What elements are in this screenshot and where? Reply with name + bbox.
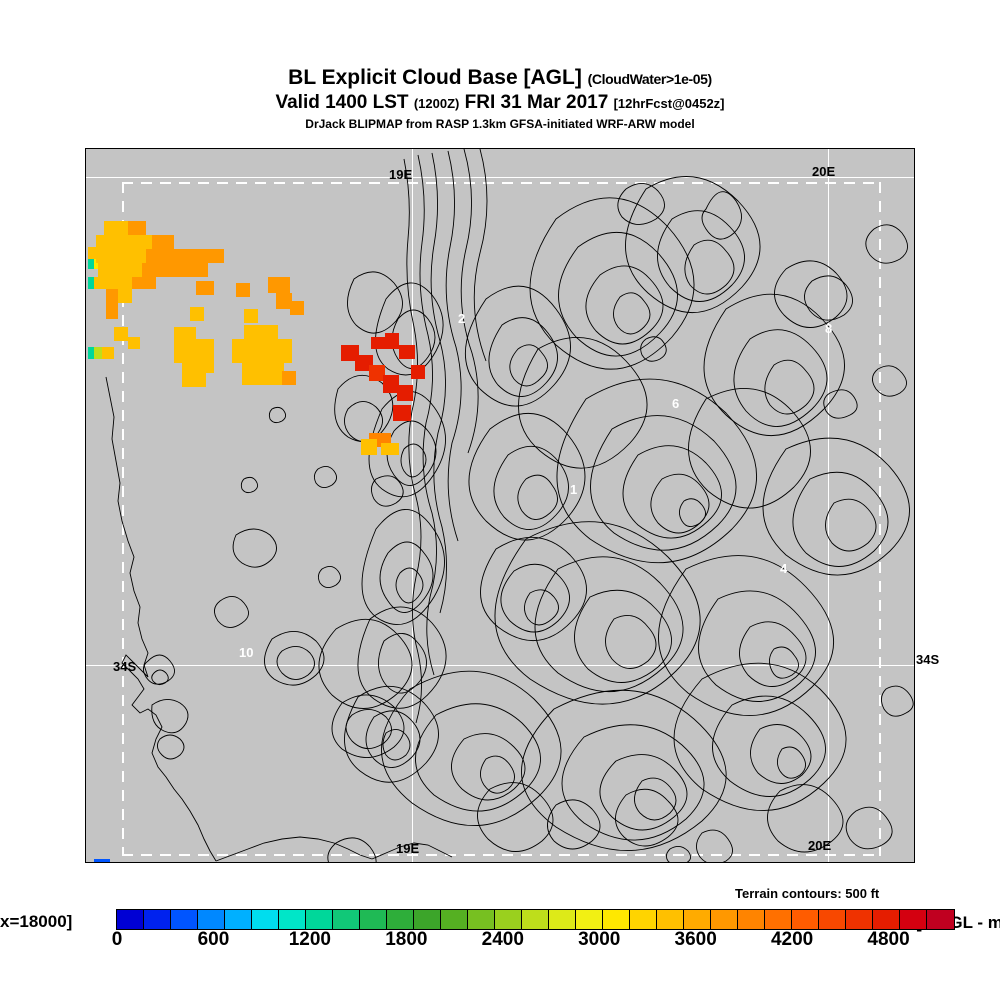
colorbar-tick-4800: 4800 xyxy=(867,929,909,951)
valid-utc-text: (1200Z) xyxy=(414,96,460,111)
cloud-base-cell xyxy=(393,405,411,421)
cloud-base-cell xyxy=(114,327,128,341)
graticule-label-20e: 20E xyxy=(808,838,831,853)
colorbar-swatch-15[interactable] xyxy=(522,910,549,929)
colorbar-swatch-27[interactable] xyxy=(846,910,873,929)
colorbar-swatch-24[interactable] xyxy=(765,910,792,929)
cloud-base-cell xyxy=(190,307,204,321)
cloud-base-cell xyxy=(381,443,399,455)
forecast-map[interactable] xyxy=(85,148,915,863)
colorbar-swatch-9[interactable] xyxy=(360,910,387,929)
graticule-label-20e: 20E xyxy=(812,164,835,179)
cloud-base-cell xyxy=(88,247,96,259)
colorbar-swatch-26[interactable] xyxy=(819,910,846,929)
map-clip-region xyxy=(86,149,914,862)
colorbar-swatch-21[interactable] xyxy=(684,910,711,929)
cloud-base-cell xyxy=(98,263,142,277)
cloud-base-cell xyxy=(94,347,102,359)
colorbar-tick-1200: 1200 xyxy=(289,929,331,951)
cloud-base-cell xyxy=(399,345,415,359)
valid-time-line: Valid 1400 LST (1200Z) FRI 31 Mar 2017 [… xyxy=(0,91,1000,115)
cloud-base-cell xyxy=(236,283,250,297)
graticule-label-19e: 19E xyxy=(389,167,412,182)
cloud-base-cell xyxy=(411,365,425,379)
colorbar-swatch-7[interactable] xyxy=(306,910,333,929)
cloud-base-cell xyxy=(232,339,292,363)
cloud-base-cell xyxy=(96,235,152,249)
graticule-label-34s: 34S xyxy=(916,652,939,667)
cloud-base-cell xyxy=(152,235,174,249)
cloud-base-cell xyxy=(371,337,385,349)
cloud-base-cell xyxy=(94,277,132,289)
cloud-base-cell xyxy=(104,221,128,235)
cloud-base-cell xyxy=(174,327,196,363)
colorbar-tick-0: 0 xyxy=(112,929,123,951)
colorbar-tick-2400: 2400 xyxy=(482,929,524,951)
colorbar-swatch-30[interactable] xyxy=(927,910,954,929)
cloud-base-cell xyxy=(128,221,146,235)
colorbar-tick-1800: 1800 xyxy=(385,929,427,951)
graticule-label-34s: 34S xyxy=(113,659,136,674)
cloud-base-cell xyxy=(94,859,110,862)
graticule-label-19e: 19E xyxy=(396,841,419,856)
cloud-base-cell xyxy=(385,333,399,349)
title-qualifier-text: (CloudWater>1e-05) xyxy=(588,71,712,87)
cloud-base-cell xyxy=(282,371,296,385)
site-marker-2[interactable]: 2 xyxy=(458,311,465,326)
colorbar-swatch-19[interactable] xyxy=(630,910,657,929)
colorbar-swatch-12[interactable] xyxy=(441,910,468,929)
colorbar-swatch-14[interactable] xyxy=(495,910,522,929)
colorbar-swatch-2[interactable] xyxy=(171,910,198,929)
cloud-base-cell xyxy=(242,363,284,385)
cloud-base-cell xyxy=(128,337,140,349)
cloud-base-cell xyxy=(118,289,132,303)
cloud-base-cell xyxy=(361,439,377,455)
valid-date-text: FRI 31 Mar 2017 xyxy=(465,92,609,113)
cloud-base-cell xyxy=(182,363,206,387)
site-marker-4[interactable]: 4 xyxy=(780,561,787,576)
colorbar-swatch-28[interactable] xyxy=(873,910,900,929)
colorbar-tick-3000: 3000 xyxy=(578,929,620,951)
colorbar-swatch-13[interactable] xyxy=(468,910,495,929)
colorbar-swatch-1[interactable] xyxy=(144,910,171,929)
colorbar-swatch-25[interactable] xyxy=(792,910,819,929)
colorbar-swatch-23[interactable] xyxy=(738,910,765,929)
site-marker-1[interactable]: 1 xyxy=(570,482,577,497)
chart-title: BL Explicit Cloud Base [AGL] (CloudWater… xyxy=(0,66,1000,91)
cloud-base-cell xyxy=(290,301,304,315)
valid-lst-text: Valid 1400 LST xyxy=(275,92,408,113)
cloud-base-cell xyxy=(397,385,413,401)
forecast-tag-text: [12hrFcst@0452z] xyxy=(614,96,725,111)
cloud-base-cell xyxy=(146,249,194,263)
colorbar-tick-600: 600 xyxy=(198,929,230,951)
site-marker-8[interactable]: 8 xyxy=(825,321,832,336)
cloud-base-cell xyxy=(196,281,214,295)
cloud-base-cell xyxy=(96,249,146,263)
colorbar-tick-3600: 3600 xyxy=(675,929,717,951)
cloud-base-cell xyxy=(268,277,290,293)
cloud-base-cell xyxy=(142,263,208,277)
cloud-base-data-layer xyxy=(86,149,914,862)
colorbar-swatch-17[interactable] xyxy=(576,910,603,929)
title-block: BL Explicit Cloud Base [AGL] (CloudWater… xyxy=(0,66,1000,133)
cloud-base-cell xyxy=(102,347,114,359)
colorbar-swatch-4[interactable] xyxy=(225,910,252,929)
colorbar-tick-labels: 06001200180024003000360042004800 xyxy=(0,929,1000,957)
site-marker-10[interactable]: 10 xyxy=(239,645,253,660)
title-main-text: BL Explicit Cloud Base [AGL] xyxy=(288,66,582,89)
colorbar-swatch-16[interactable] xyxy=(549,910,576,929)
colorbar-swatch-3[interactable] xyxy=(198,910,225,929)
site-marker-6[interactable]: 6 xyxy=(672,396,679,411)
colorbar-swatch-22[interactable] xyxy=(711,910,738,929)
colorbar[interactable] xyxy=(116,909,955,930)
model-source-line: DrJack BLIPMAP from RASP 1.3km GFSA-init… xyxy=(0,115,1000,133)
cloud-base-cell xyxy=(194,249,224,263)
terrain-contour-note: Terrain contours: 500 ft xyxy=(735,886,879,901)
colorbar-swatch-0[interactable] xyxy=(117,910,144,929)
colorbar-swatch-18[interactable] xyxy=(603,910,630,929)
colorbar-tick-4200: 4200 xyxy=(771,929,813,951)
cloud-base-cell xyxy=(106,289,118,319)
cloud-base-cell xyxy=(132,277,156,289)
colorbar-swatch-20[interactable] xyxy=(657,910,684,929)
colorbar-swatch-5[interactable] xyxy=(252,910,279,929)
colorbar-swatch-10[interactable] xyxy=(387,910,414,929)
colorbar-swatch-8[interactable] xyxy=(333,910,360,929)
cloud-base-cell xyxy=(244,309,258,323)
colorbar-swatch-11[interactable] xyxy=(414,910,441,929)
colorbar-swatch-29[interactable] xyxy=(900,910,927,929)
colorbar-swatch-6[interactable] xyxy=(279,910,306,929)
